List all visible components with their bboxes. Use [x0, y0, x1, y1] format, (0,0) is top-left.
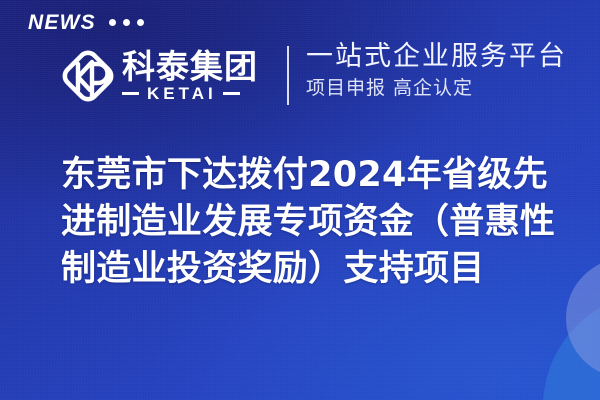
tagline-sub: 项目申报 高企认定: [306, 77, 567, 101]
brand-tagline-divider: [287, 46, 289, 105]
tagline-block: 一站式企业服务平台 项目申报 高企认定: [306, 41, 567, 101]
brand-names: 科泰集团 KETAI: [122, 50, 258, 103]
news-dot: [123, 19, 130, 26]
brand-name-en-row: KETAI: [122, 85, 258, 102]
ketai-logo-icon: [58, 45, 118, 107]
brand-name-cn: 科泰集团: [122, 50, 258, 85]
news-label: NEWS: [28, 12, 96, 33]
brand-name-en: KETAI: [145, 85, 217, 102]
news-banner: NEWS 科泰集团 KETAI: [0, 0, 600, 400]
tagline-main: 一站式企业服务平台: [306, 41, 567, 73]
news-dots-icon: [109, 19, 144, 26]
brand-rule-right-icon: [223, 92, 240, 95]
news-dot: [137, 19, 144, 26]
news-dot: [109, 19, 116, 26]
brand-lockup: 科泰集团 KETAI: [58, 42, 258, 110]
news-eyebrow: NEWS: [28, 12, 144, 33]
brand-rule-left-icon: [122, 92, 139, 95]
headline-text: 东莞市下达拨付2024年省级先进制造业发展专项资金（普惠性制造业投资奖励）支持项…: [61, 152, 561, 293]
